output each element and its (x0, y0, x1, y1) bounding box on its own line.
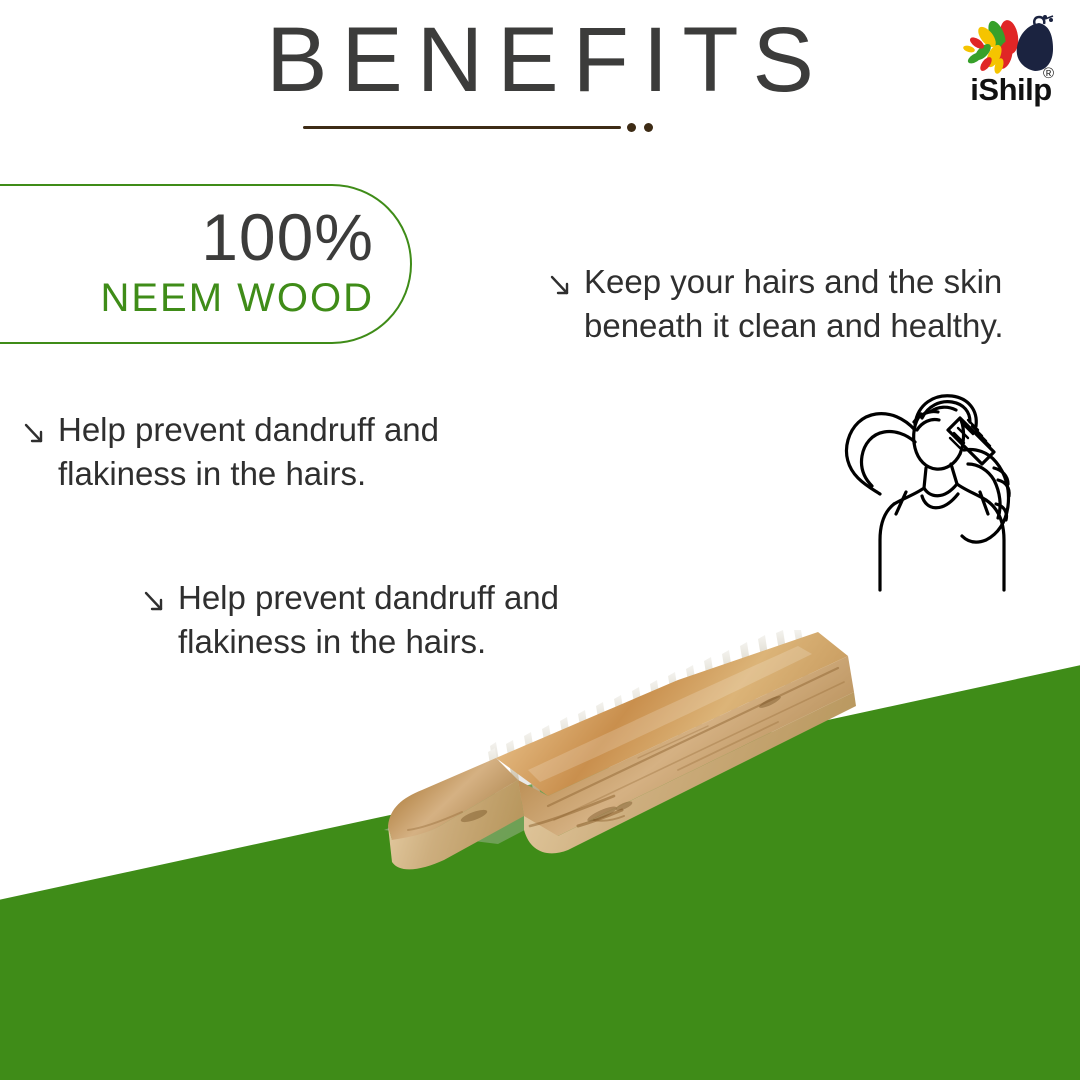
person-combing-hair-icon (818, 364, 1058, 592)
title-dot-two (644, 123, 653, 132)
title-underline (303, 122, 655, 134)
registered-trademark-icon: ® (1043, 66, 1054, 81)
benefit-text: Help prevent dandruff and flakiness in t… (58, 408, 500, 496)
benefit-item: Keep your hairs and the skin beneath it … (546, 260, 1046, 348)
badge-material: NEEM WOOD (0, 278, 374, 318)
benefit-item: Help prevent dandruff and flakiness in t… (20, 408, 500, 496)
page-title: BENEFITS (0, 12, 1080, 109)
arrow-down-right-icon (546, 268, 576, 304)
title-rule-line (303, 126, 621, 129)
header: BENEFITS (0, 0, 1080, 150)
arrow-down-right-icon (140, 584, 170, 620)
benefits-infographic: BENEFITS (0, 0, 1080, 1080)
neem-wood-comb-product-image (378, 630, 906, 910)
badge-percent: 100% (0, 204, 374, 270)
benefit-text: Keep your hairs and the skin beneath it … (584, 260, 1046, 348)
brand-logo: iShilp ® (952, 8, 1070, 126)
arrow-down-right-icon (20, 416, 50, 452)
material-badge: 100% NEEM WOOD (0, 184, 412, 344)
title-dot-one (627, 123, 636, 132)
